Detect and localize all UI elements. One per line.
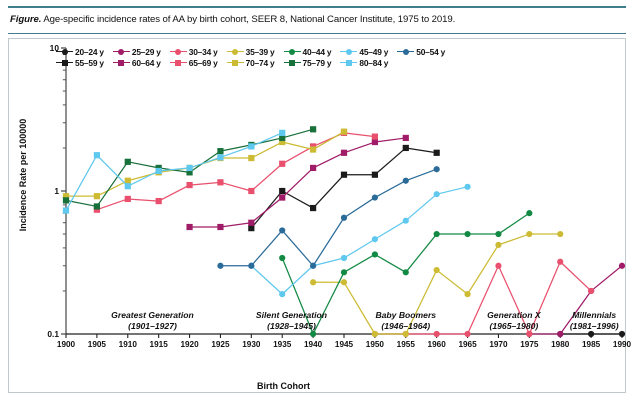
legend-item-55-59--[interactable]: 55–59 y xyxy=(56,58,104,68)
legend-label: 65–69 y xyxy=(189,58,218,68)
legend-item-80-84--[interactable]: 80–84 y xyxy=(340,58,388,68)
figure-caption: Figure. Age-specific incidence rates of … xyxy=(10,13,624,26)
legend-marker-icon xyxy=(170,47,187,56)
x-axis-label: Birth Cohort xyxy=(257,381,310,391)
legend-marker-icon xyxy=(227,58,244,67)
legend-label: 55–59 y xyxy=(75,58,104,68)
legend-marker-icon xyxy=(170,58,187,67)
x-tick-label: 1935 xyxy=(265,340,299,349)
legend-item-20-24--[interactable]: 20–24 y xyxy=(56,47,104,57)
generation-name: Millennials xyxy=(534,310,634,321)
y-axis-label: Incidence Rate per 100000 xyxy=(18,105,28,245)
legend-item-35-39--[interactable]: 35–39 y xyxy=(227,47,275,57)
x-tick-label: 1955 xyxy=(389,340,423,349)
generation-years: (1928–1945) xyxy=(231,321,351,332)
legend-label: 40–44 y xyxy=(303,47,332,57)
generation-label-4: Millennials(1981–1996) xyxy=(534,310,634,332)
legend-item-70-74--[interactable]: 70–74 y xyxy=(227,58,275,68)
legend-label: 80–84 y xyxy=(359,58,388,68)
generation-years: (1946–1964) xyxy=(346,321,466,332)
y-tick-label: 1 xyxy=(35,186,59,196)
generation-name: Baby Boomers xyxy=(346,310,466,321)
x-tick-label: 1940 xyxy=(296,340,330,349)
legend-marker-icon xyxy=(113,47,130,56)
caption-text: Age-specific incidence rates of AA by bi… xyxy=(41,14,455,25)
legend-item-40-44--[interactable]: 40–44 y xyxy=(284,47,332,57)
legend-label: 75–79 y xyxy=(303,58,332,68)
figure-root: Figure. Age-specific incidence rates of … xyxy=(0,0,634,400)
legend-label: 50–54 y xyxy=(416,47,445,57)
generation-years: (1981–1996) xyxy=(534,321,634,332)
legend-label: 60–64 y xyxy=(132,58,161,68)
legend-row-1: 55–59 y60–64 y65–69 y70–74 y75–79 y80–84… xyxy=(56,57,476,68)
legend-item-45-49--[interactable]: 45–49 y xyxy=(340,47,388,57)
generation-label-1: Silent Generation(1928–1945) xyxy=(231,310,351,332)
legend-item-75-79--[interactable]: 75–79 y xyxy=(284,58,332,68)
legend-marker-icon xyxy=(56,58,73,67)
generation-name: Greatest Generation xyxy=(92,310,212,321)
x-tick-label: 1945 xyxy=(327,340,361,349)
y-tick-label: 10 xyxy=(35,43,59,53)
bottom-rule xyxy=(8,33,626,34)
x-tick-label: 1980 xyxy=(543,340,577,349)
legend-item-25-29--[interactable]: 25–29 y xyxy=(113,47,161,57)
legend-marker-icon xyxy=(113,58,130,67)
x-tick-label: 1900 xyxy=(49,340,83,349)
x-tick-label: 1950 xyxy=(358,340,392,349)
legend-row-0: 20–24 y25–29 y30–34 y35–39 y40–44 y45–49… xyxy=(56,46,476,57)
generation-name: Silent Generation xyxy=(231,310,351,321)
legend-item-60-64--[interactable]: 60–64 y xyxy=(113,58,161,68)
legend-label: 20–24 y xyxy=(75,47,104,57)
legend-marker-icon xyxy=(284,47,301,56)
x-tick-label: 1970 xyxy=(481,340,515,349)
generation-label-0: Greatest Generation(1901–1927) xyxy=(92,310,212,332)
generation-years: (1901–1927) xyxy=(92,321,212,332)
legend-item-50-54--[interactable]: 50–54 y xyxy=(397,47,445,57)
legend-marker-icon xyxy=(227,47,244,56)
legend-item-65-69--[interactable]: 65–69 y xyxy=(170,58,218,68)
legend-label: 45–49 y xyxy=(359,47,388,57)
chart-legend: 20–24 y25–29 y30–34 y35–39 y40–44 y45–49… xyxy=(56,46,476,68)
x-tick-label: 1985 xyxy=(574,340,608,349)
x-tick-label: 1925 xyxy=(203,340,237,349)
x-tick-label: 1975 xyxy=(512,340,546,349)
x-tick-label: 1930 xyxy=(234,340,268,349)
x-tick-label: 1960 xyxy=(420,340,454,349)
x-tick-label: 1910 xyxy=(111,340,145,349)
legend-marker-icon xyxy=(340,47,357,56)
x-tick-label: 1915 xyxy=(142,340,176,349)
legend-marker-icon xyxy=(397,47,414,56)
x-tick-label: 1905 xyxy=(80,340,114,349)
legend-item-30-34--[interactable]: 30–34 y xyxy=(170,47,218,57)
top-rule xyxy=(8,6,626,8)
legend-label: 70–74 y xyxy=(246,58,275,68)
caption-lead: Figure. xyxy=(10,14,41,25)
x-tick-label: 1990 xyxy=(605,340,634,349)
legend-label: 35–39 y xyxy=(246,47,275,57)
x-tick-label: 1965 xyxy=(451,340,485,349)
y-tick-label: 0.1 xyxy=(35,329,59,339)
generation-label-2: Baby Boomers(1946–1964) xyxy=(346,310,466,332)
legend-label: 30–34 y xyxy=(189,47,218,57)
legend-marker-icon xyxy=(340,58,357,67)
legend-label: 25–29 y xyxy=(132,47,161,57)
legend-marker-icon xyxy=(284,58,301,67)
x-tick-label: 1920 xyxy=(173,340,207,349)
